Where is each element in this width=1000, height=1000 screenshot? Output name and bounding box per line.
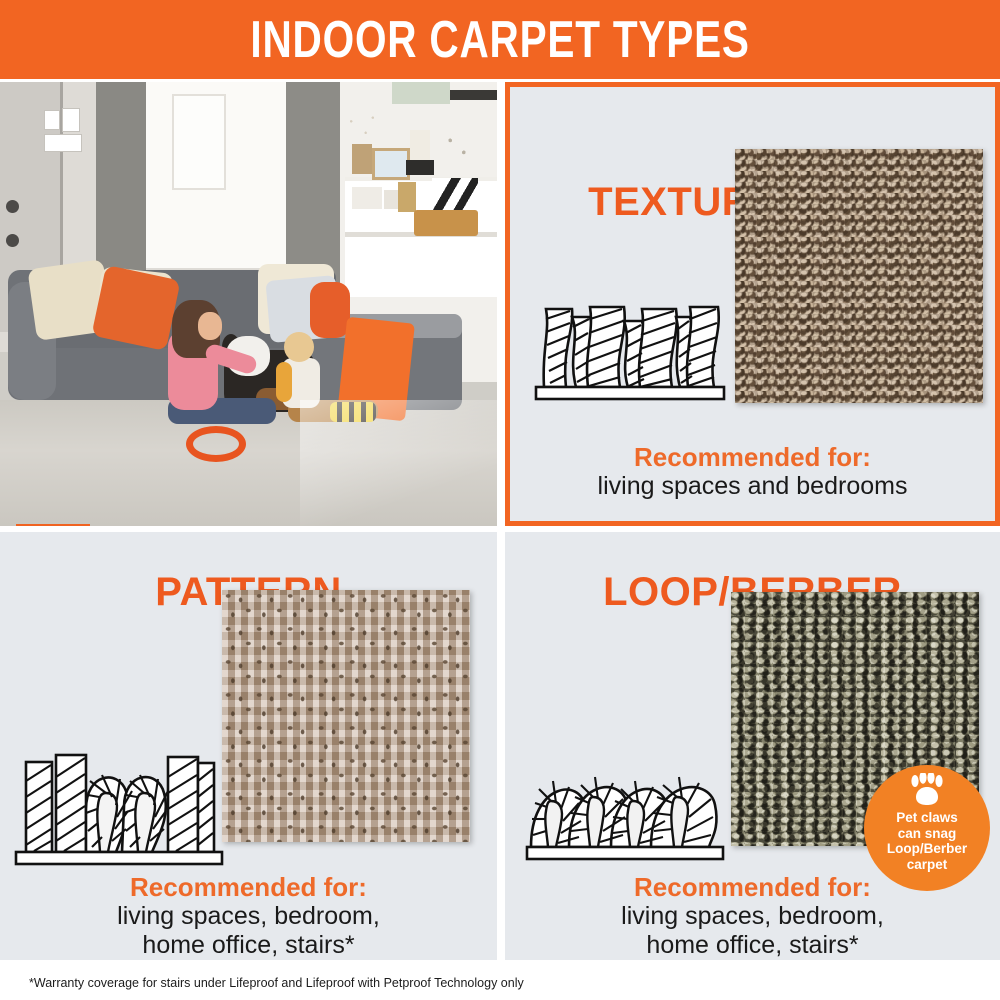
recommended-line-1: living spaces, bedroom, xyxy=(0,902,497,931)
warranty-disclaimer: *Warranty coverage for stairs under Life… xyxy=(0,976,524,990)
door-knob-icon xyxy=(6,200,19,213)
home-depot-logo: THE HOME DEPOT xyxy=(16,524,90,526)
recommended-line-2: home office, stairs* xyxy=(505,931,1000,960)
woven-basket xyxy=(414,210,478,236)
infographic-root: INDOOR CARPET TYPES xyxy=(0,0,1000,1000)
storage-box xyxy=(352,187,382,209)
footer: *Warranty coverage for stairs under Life… xyxy=(0,966,1000,1000)
living-room-photo-panel: THE HOME DEPOT xyxy=(0,82,497,526)
paw-print-icon xyxy=(907,773,947,807)
woman-face xyxy=(198,312,222,340)
recommended-label: Recommended for: xyxy=(0,872,497,902)
header-banner: INDOOR CARPET TYPES xyxy=(0,0,1000,79)
texture-twist-carpet-swatch xyxy=(735,149,983,403)
wall-panel xyxy=(44,134,82,152)
patterned-decor xyxy=(432,178,478,210)
dog-toy-ring xyxy=(186,426,246,462)
living-room-photo xyxy=(0,82,497,526)
throw-pillow-orange xyxy=(91,265,180,351)
recommended-block-pattern: Recommended for: living spaces, bedroom,… xyxy=(0,872,497,960)
child-arm xyxy=(276,362,292,402)
panel-pattern: PATTERN xyxy=(0,532,497,960)
throw-pillow-orange-2 xyxy=(310,282,350,338)
recommended-block-texture-twist: Recommended for: living spaces and bedro… xyxy=(510,442,995,501)
pet-badge-line-3: Loop/Berber xyxy=(887,841,967,857)
vase xyxy=(352,144,372,174)
panel-loop-berber: LOOP/BERBER xyxy=(505,532,1000,960)
recommended-line-1: living spaces and bedrooms xyxy=(510,472,995,501)
child-head xyxy=(284,332,314,362)
floating-shelf xyxy=(450,90,497,100)
pet-badge-line-4: carpet xyxy=(887,857,967,873)
picture-frame xyxy=(372,148,410,180)
pet-badge-line-2: can snag xyxy=(887,826,967,842)
recommended-label: Recommended for: xyxy=(510,442,995,472)
texture-twist-fiber-diagram xyxy=(532,287,727,407)
recommended-line-2: home office, stairs* xyxy=(0,931,497,960)
loop-berber-fiber-diagram xyxy=(523,747,728,867)
page-title: INDOOR CARPET TYPES xyxy=(250,10,749,70)
candle-stand xyxy=(406,160,434,175)
panel-texture-twist: TEXTURE/TWIST xyxy=(505,82,1000,526)
decor-branches xyxy=(344,110,380,148)
door-lock-icon xyxy=(6,234,19,247)
pet-badge-text: Pet claws can snag Loop/Berber carpet xyxy=(887,810,967,873)
curtain-right xyxy=(286,82,340,287)
pattern-carpet-swatch xyxy=(222,590,470,842)
window-frame xyxy=(172,94,226,190)
light-switch xyxy=(44,110,60,130)
gold-jar xyxy=(398,182,416,212)
sunlight-patch xyxy=(300,400,497,526)
home-depot-logo-text: THE HOME DEPOT xyxy=(16,524,90,526)
pattern-fiber-diagram xyxy=(12,747,227,872)
pet-claws-warning-badge: Pet claws can snag Loop/Berber carpet xyxy=(864,765,990,891)
pet-badge-line-1: Pet claws xyxy=(887,810,967,826)
curtain-left xyxy=(96,82,146,282)
decor-object xyxy=(440,126,474,174)
candle xyxy=(410,130,430,160)
thermostat xyxy=(62,108,80,132)
wall-art xyxy=(392,82,450,104)
recommended-line-1: living spaces, bedroom, xyxy=(505,902,1000,931)
